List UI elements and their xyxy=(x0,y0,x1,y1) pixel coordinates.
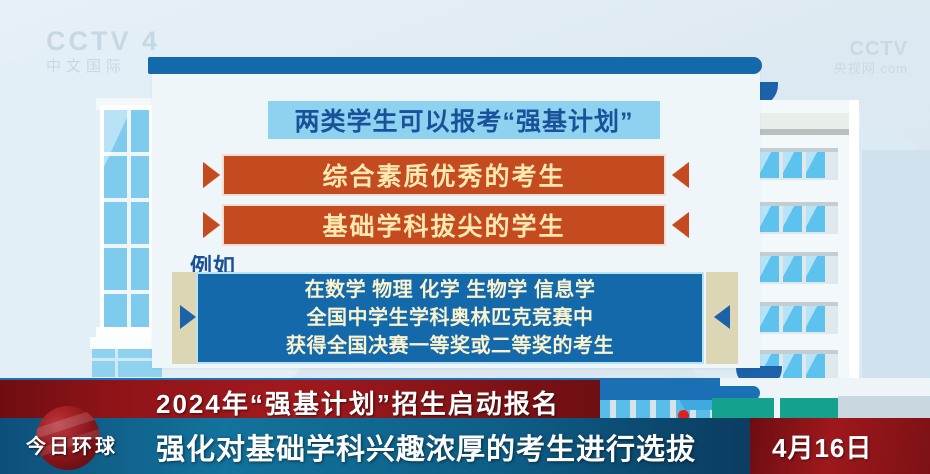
subheadline-text: 强化对基础学科兴趣浓厚的考生进行选拔 xyxy=(156,426,696,468)
example-box: 在数学 物理 化学 生物学 信息学 全国中学生学科奥林匹克竞赛中 获得全国决赛一… xyxy=(196,272,704,364)
example-line-2: 全国中学生学科奥林匹克竞赛中 xyxy=(307,305,594,332)
right-building-roof-shadow xyxy=(752,129,851,135)
right-arrow-icon xyxy=(672,162,689,188)
window-row xyxy=(756,202,838,234)
left-arrow-icon xyxy=(203,212,220,238)
example-line-1: 在数学 物理 化学 生物学 信息学 xyxy=(305,277,596,304)
example-line-3: 获得全国决赛一等奖或二等奖的考生 xyxy=(286,333,614,360)
blue-right-arrow-icon xyxy=(714,305,730,329)
panel-header-text: 两类学生可以报考“强基计划” xyxy=(294,102,633,138)
broadcast-screenshot: CCTV 4 中文国际 CCTV 央视网.com 两类学生可以报考“强基计划” … xyxy=(0,0,930,474)
left-tower-base xyxy=(96,327,158,337)
right-arrow-icon xyxy=(672,212,689,238)
right-building-roof xyxy=(752,113,860,129)
date-text: 4月16日 xyxy=(772,428,872,465)
criteria-bar-2: 基础学科拔尖的学生 xyxy=(222,204,666,246)
blue-left-arrow-icon xyxy=(180,305,196,329)
cctv-com-watermark: CCTV 央视网.com xyxy=(834,38,908,77)
cctv-com-watermark-line2: 央视网.com xyxy=(834,58,908,77)
criteria-bar-1-text: 综合素质优秀的考生 xyxy=(322,157,565,193)
info-panel-top-bar xyxy=(148,57,762,74)
window-row xyxy=(756,302,838,334)
window-row xyxy=(756,252,838,284)
panel-header-pill: 两类学生可以报考“强基计划” xyxy=(268,101,660,139)
date-badge: 4月16日 xyxy=(750,418,930,474)
cctv4-watermark-line1: CCTV 4 xyxy=(46,26,182,57)
headline-text: 2024年“强基计划”招生启动报名 xyxy=(156,384,560,421)
program-name: 今日环球 xyxy=(26,430,118,459)
left-arrow-icon xyxy=(203,162,220,188)
left-tower-glass xyxy=(104,110,149,330)
window-row xyxy=(756,148,838,180)
right-building-edge xyxy=(849,100,859,382)
right-far-building xyxy=(862,150,930,382)
criteria-bar-1: 综合素质优秀的考生 xyxy=(222,154,666,196)
criteria-bar-2-text: 基础学科拔尖的学生 xyxy=(322,207,565,243)
program-logo: 今日环球 xyxy=(12,408,152,470)
right-building xyxy=(748,100,856,382)
